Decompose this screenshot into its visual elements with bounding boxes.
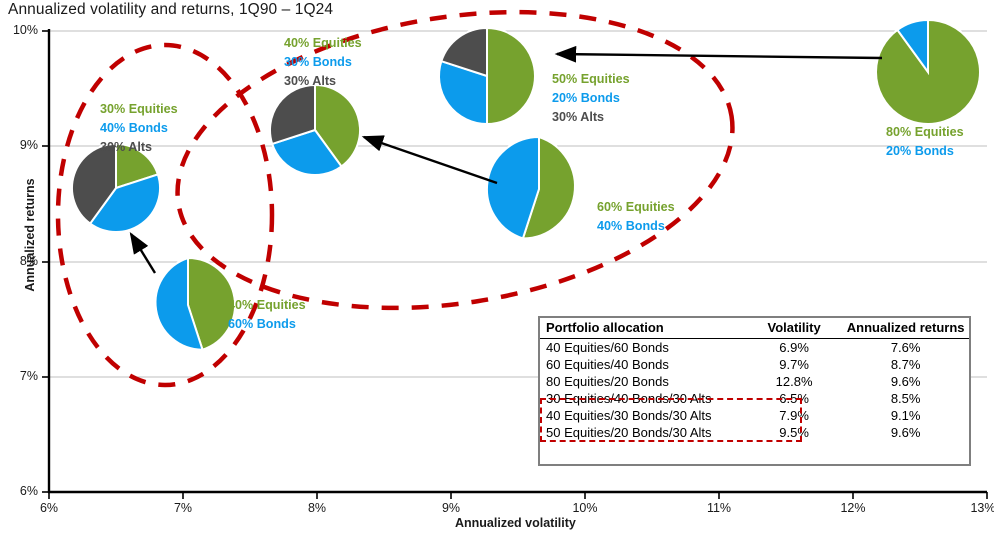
x-tick-13: 13% <box>963 501 994 515</box>
y-tick-9: 9% <box>0 138 38 152</box>
label-equities: 40% Equities <box>228 296 306 315</box>
label-bonds: 60% Bonds <box>228 315 306 334</box>
cell-allocation: 60 Equities/40 Bonds <box>540 356 746 373</box>
label-equities: 50% Equities <box>552 70 630 89</box>
label-equities: 40% Equities <box>284 34 362 53</box>
label-30-40-30: 30% Equities 40% Bonds 30% Alts <box>100 100 178 157</box>
label-alts: 30% Alts <box>552 108 630 127</box>
cell-returns: 8.5% <box>840 390 969 407</box>
cell-volatility: 9.5% <box>746 424 840 441</box>
pie-60-equities-40-bonds <box>487 137 575 238</box>
y-tick-6: 6% <box>0 484 38 498</box>
cell-returns: 8.7% <box>840 356 969 373</box>
y-tick-10: 10% <box>0 23 38 37</box>
label-alts: 30% Alts <box>284 72 362 91</box>
x-tick-8: 8% <box>297 501 337 515</box>
x-tick-7: 7% <box>163 501 203 515</box>
pie-30-equities-40-bonds-30-alts <box>72 144 160 232</box>
cell-volatility: 7.9% <box>746 407 840 424</box>
pie-50-equities-20-bonds-30-alts <box>439 28 535 124</box>
cell-returns: 9.6% <box>840 424 969 441</box>
table-row: 80 Equities/20 Bonds 12.8% 9.6% <box>540 373 969 390</box>
label-40-30-30: 40% Equities 30% Bonds 30% Alts <box>284 34 362 91</box>
cell-allocation: 80 Equities/20 Bonds <box>540 373 746 390</box>
table-row: 50 Equities/20 Bonds/30 Alts 9.5% 9.6% <box>540 424 969 441</box>
table-row: 60 Equities/40 Bonds 9.7% 8.7% <box>540 356 969 373</box>
cell-allocation: 40 Equities/30 Bonds/30 Alts <box>540 407 746 424</box>
x-tick-10: 10% <box>565 501 605 515</box>
arrow-60-40-to-40-30-30 <box>364 137 497 183</box>
x-tick-6: 6% <box>29 501 69 515</box>
label-bonds: 20% Bonds <box>552 89 630 108</box>
label-equities: 80% Equities <box>886 123 964 142</box>
y-axis-title: Annualized returns <box>23 165 37 305</box>
label-bonds: 20% Bonds <box>886 142 964 161</box>
label-bonds: 40% Bonds <box>100 119 178 138</box>
x-axis-title: Annualized volatility <box>455 516 576 530</box>
th-volatility: Volatility <box>746 318 840 339</box>
cell-returns: 9.1% <box>840 407 969 424</box>
cell-volatility: 9.7% <box>746 356 840 373</box>
table-header-row: Portfolio allocation Volatility Annualiz… <box>540 318 969 339</box>
arrow-40-60-to-30-40-30 <box>131 234 155 273</box>
th-portfolio-allocation: Portfolio allocation <box>540 318 746 339</box>
cell-allocation: 40 Equities/60 Bonds <box>540 339 746 357</box>
x-tick-12: 12% <box>833 501 873 515</box>
portfolio-allocation-table: Portfolio allocation Volatility Annualiz… <box>538 316 971 466</box>
label-80-20: 80% Equities 20% Bonds <box>886 123 964 161</box>
label-40-60: 40% Equities 60% Bonds <box>228 296 306 334</box>
label-60-40: 60% Equities 40% Bonds <box>597 198 675 236</box>
cell-allocation: 30 Equities/40 Bonds/30 Alts <box>540 390 746 407</box>
label-50-20-30: 50% Equities 20% Bonds 30% Alts <box>552 70 630 127</box>
label-bonds: 30% Bonds <box>284 53 362 72</box>
th-annualized-returns: Annualized returns <box>840 318 969 339</box>
cell-allocation: 50 Equities/20 Bonds/30 Alts <box>540 424 746 441</box>
cell-returns: 7.6% <box>840 339 969 357</box>
y-tick-7: 7% <box>0 369 38 383</box>
arrow-80-20-to-50-20-30 <box>557 54 882 58</box>
label-equities: 60% Equities <box>597 198 675 217</box>
cell-volatility: 12.8% <box>746 373 840 390</box>
cell-volatility: 6.5% <box>746 390 840 407</box>
x-tick-11: 11% <box>699 501 739 515</box>
x-tick-9: 9% <box>431 501 471 515</box>
label-bonds: 40% Bonds <box>597 217 675 236</box>
cell-volatility: 6.9% <box>746 339 840 357</box>
cell-returns: 9.6% <box>840 373 969 390</box>
pie-40-equities-60-bonds <box>156 258 235 350</box>
table-row: 40 Equities/60 Bonds 6.9% 7.6% <box>540 339 969 357</box>
pie-80-equities-20-bonds <box>876 20 980 124</box>
chart-canvas: Annualized volatility and returns, 1Q90 … <box>0 0 994 537</box>
table-row: 30 Equities/40 Bonds/30 Alts 6.5% 8.5% <box>540 390 969 407</box>
table-row: 40 Equities/30 Bonds/30 Alts 7.9% 9.1% <box>540 407 969 424</box>
label-alts: 30% Alts <box>100 138 178 157</box>
label-equities: 30% Equities <box>100 100 178 119</box>
pie-40-equities-30-bonds-30-alts <box>270 85 360 175</box>
